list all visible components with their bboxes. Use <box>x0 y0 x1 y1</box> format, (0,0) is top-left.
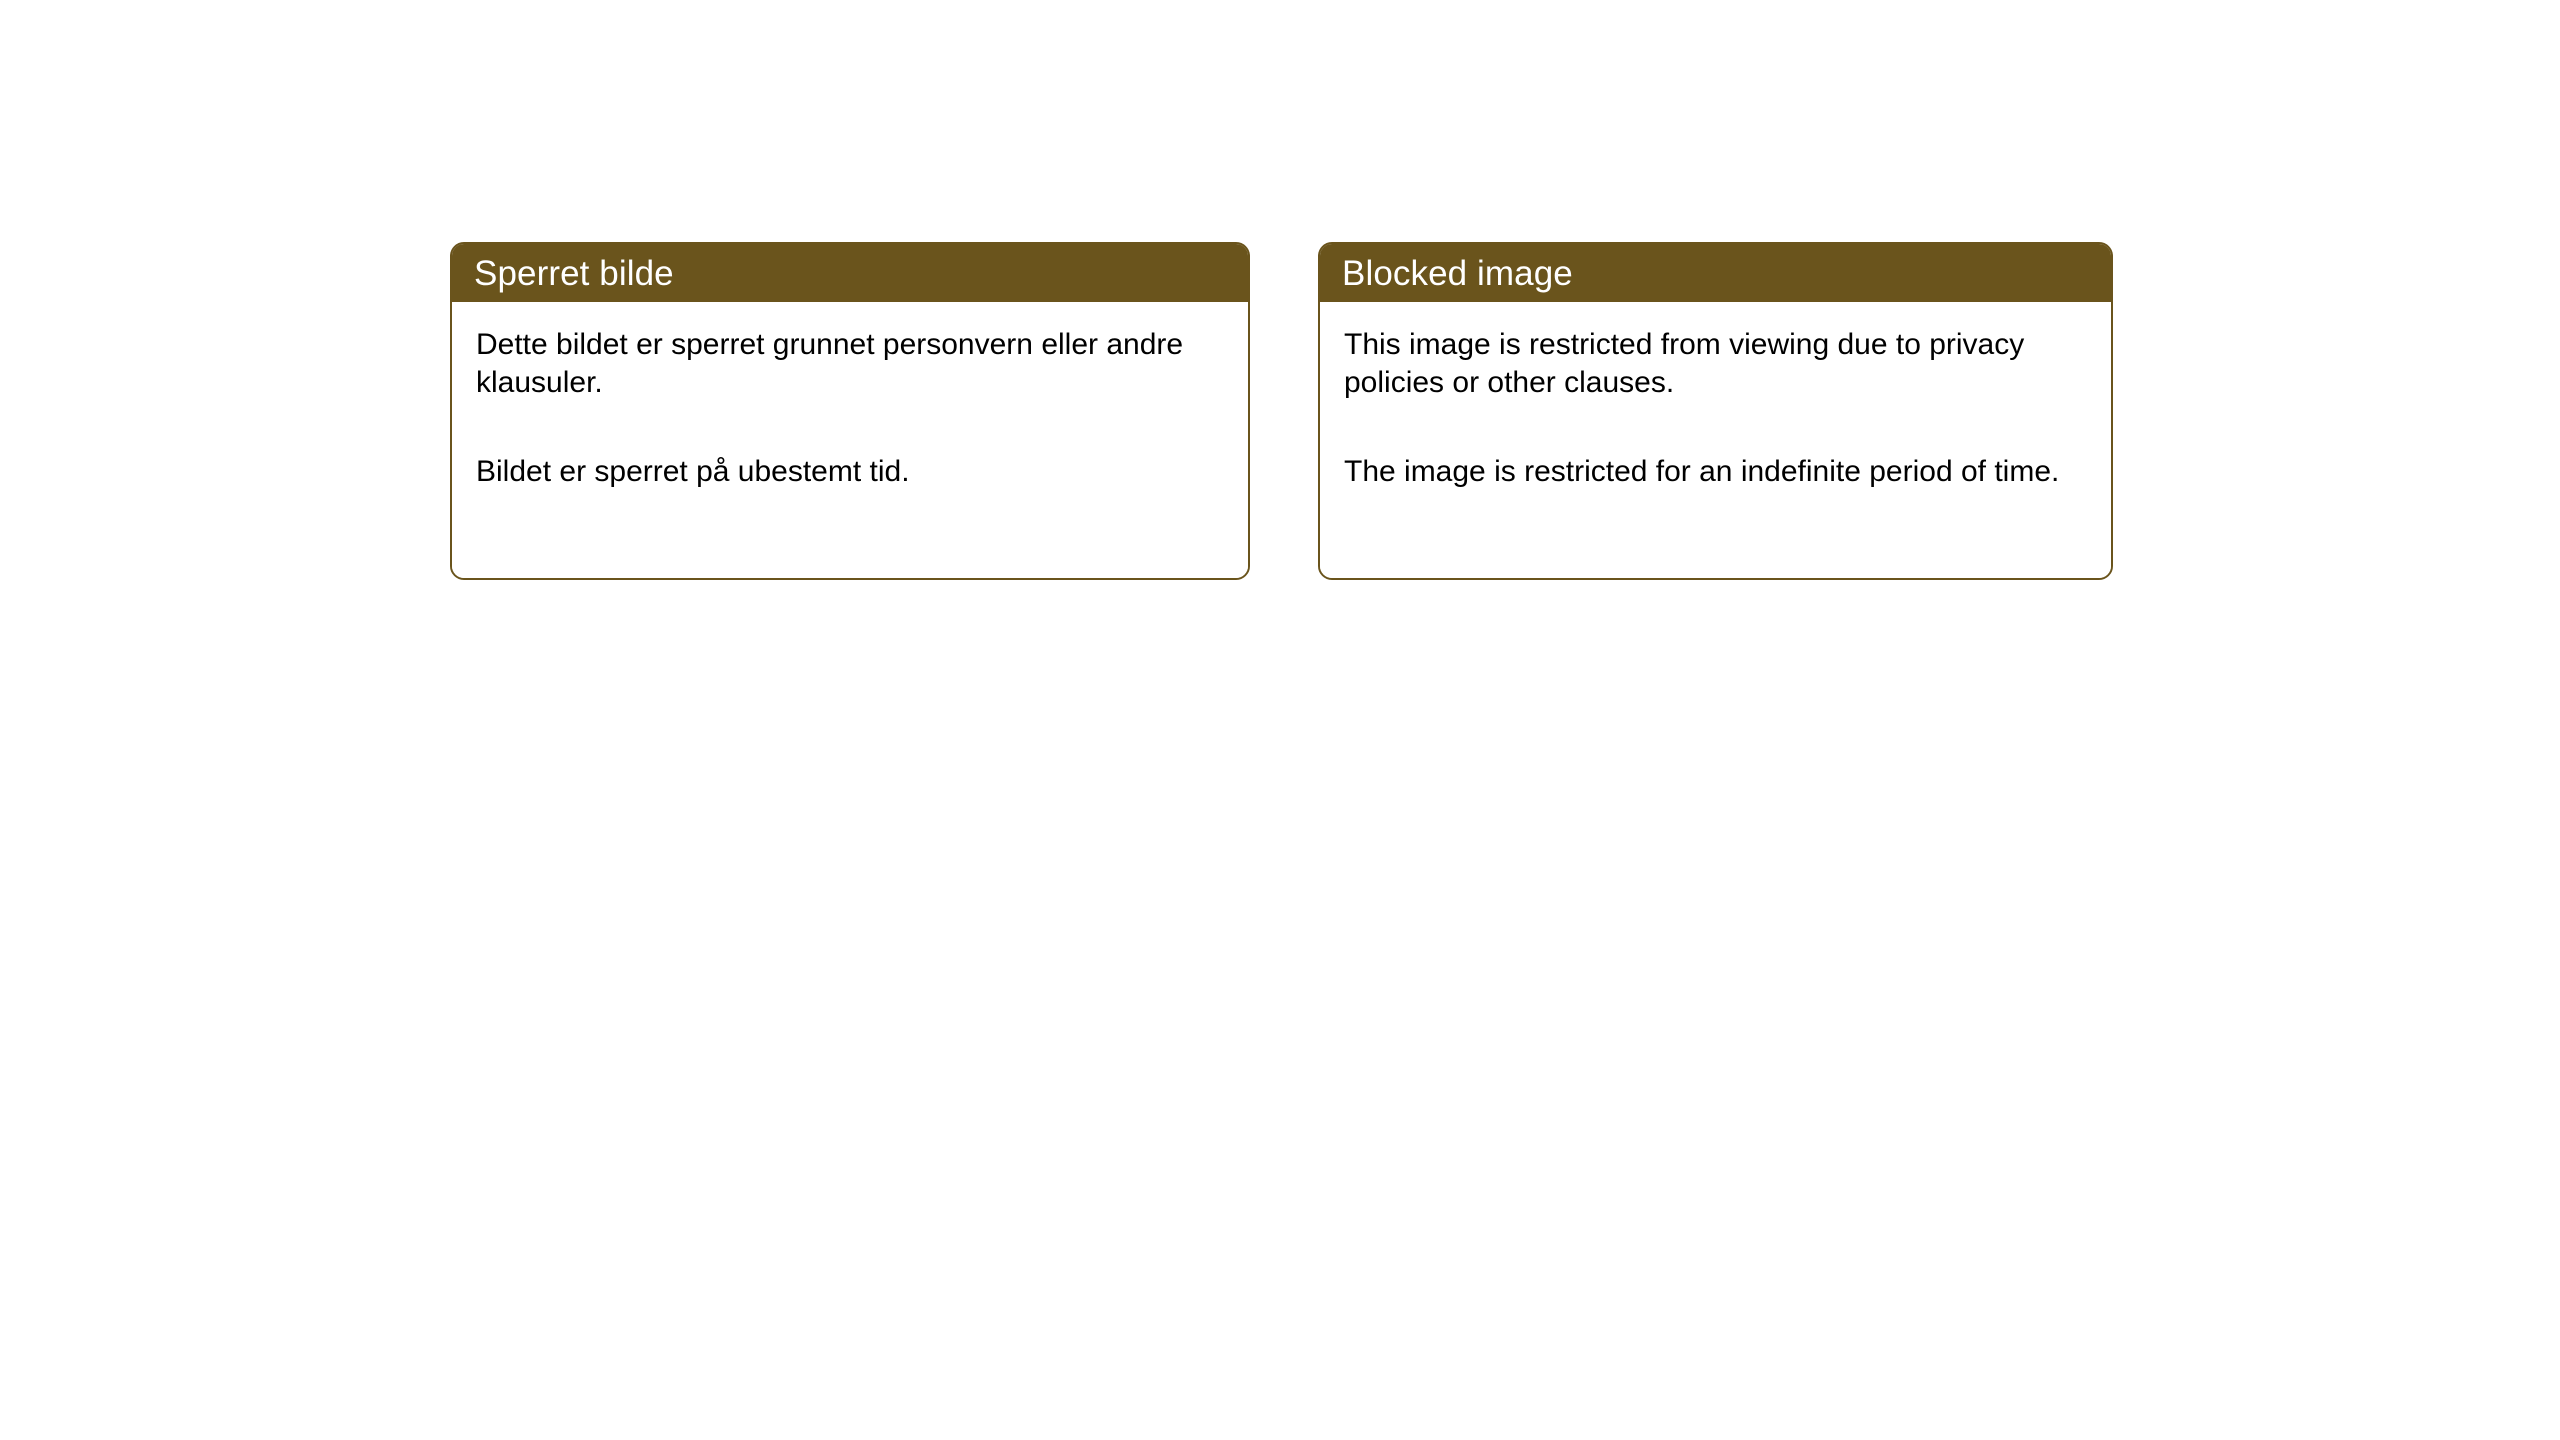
card-title-english: Blocked image <box>1342 256 1573 291</box>
blocked-image-notice-group: Sperret bilde Dette bildet er sperret gr… <box>450 242 2113 580</box>
card-message-primary-norwegian: Dette bildet er sperret grunnet personve… <box>476 326 1224 403</box>
blocked-image-card-norwegian: Sperret bilde Dette bildet er sperret gr… <box>450 242 1250 580</box>
card-header-english: Blocked image <box>1320 244 2111 302</box>
card-header-norwegian: Sperret bilde <box>452 244 1248 302</box>
card-message-primary-english: This image is restricted from viewing du… <box>1344 326 2087 403</box>
card-body-norwegian: Dette bildet er sperret grunnet personve… <box>452 302 1248 578</box>
card-message-secondary-english: The image is restricted for an indefinit… <box>1344 453 2087 491</box>
card-body-english: This image is restricted from viewing du… <box>1320 302 2111 578</box>
card-title-norwegian: Sperret bilde <box>474 256 674 291</box>
card-message-secondary-norwegian: Bildet er sperret på ubestemt tid. <box>476 453 1224 491</box>
blocked-image-card-english: Blocked image This image is restricted f… <box>1318 242 2113 580</box>
